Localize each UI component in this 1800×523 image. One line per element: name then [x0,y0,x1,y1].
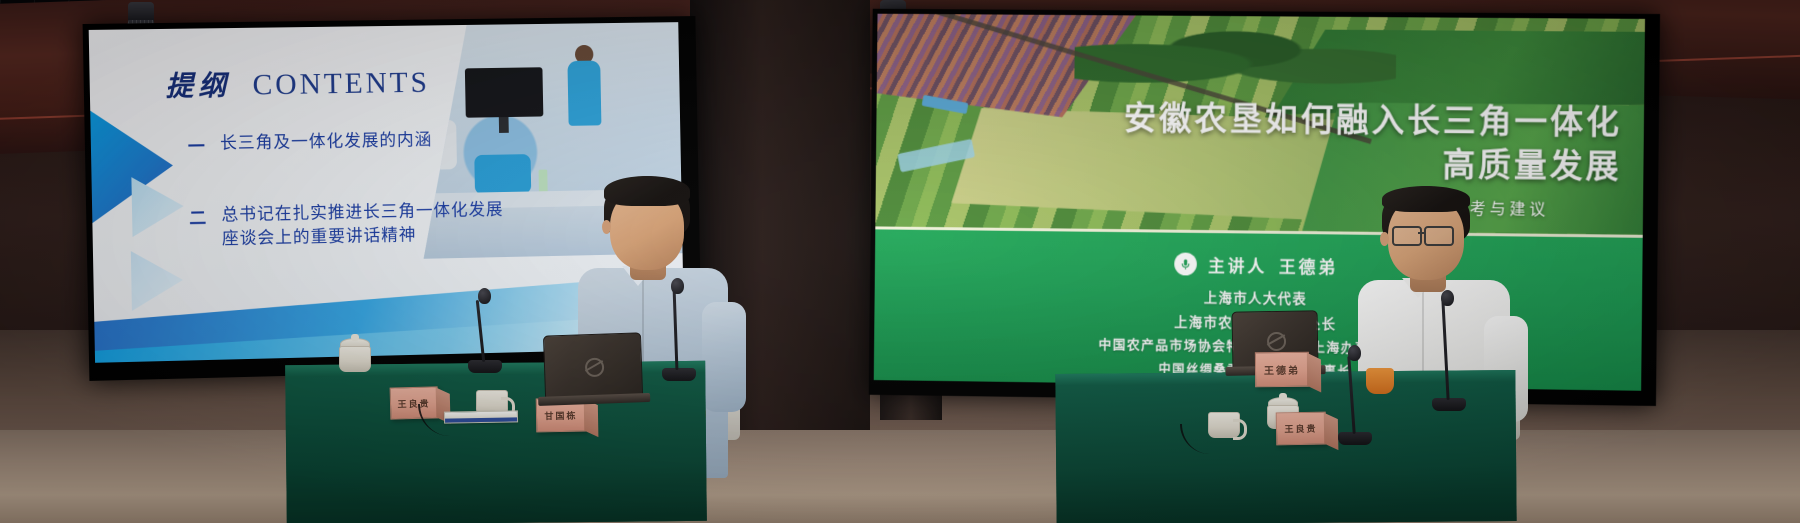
right-slide-title: 安徽农垦如何融入长三角一体化 高质量发展 [1123,97,1622,188]
laptop-left [543,332,641,397]
microphone-head-icon [671,278,684,294]
left-slide-item-2-number: 二 [188,204,208,229]
microphone-base [468,360,502,373]
chevron-bullet-icon [131,250,184,311]
speaker-left-arm [702,302,746,412]
right-slide-speaker-name: 王德弟 [1279,253,1338,279]
left-slide-item-1-number: 一 [186,132,206,157]
left-speaker-table [285,361,707,523]
left-slide-item-2-text: 总书记在扎实推进长三角一体化发展 座谈会上的重要讲话精神 [221,198,504,251]
teacup [339,346,371,372]
microphone-base [1338,432,1372,445]
eyeglasses-left-lens [1392,226,1422,246]
microphone-base [662,368,696,381]
left-slide-item-1-text: 长三角及一体化发展的内涵 [220,128,433,156]
microphone-head-icon [1348,345,1361,361]
left-slide-title: 提纲 CONTENTS [165,61,430,105]
orange-device [1366,368,1394,394]
left-slide-title-en: CONTENTS [252,66,430,102]
nameplate-right-1: 王良贵 [1276,412,1327,446]
microphone-icon [1174,253,1197,276]
microphone-head-icon [1441,290,1454,306]
right-slide-title-line1: 安徽农垦如何融入长三角一体化 [1124,97,1623,145]
floor [0,430,1800,523]
chevron-bullet-icon [131,176,184,237]
eyeglasses-bridge [1418,232,1426,234]
microphone-head-icon [478,288,491,304]
eyeglasses-right-lens [1424,226,1454,246]
right-slide-speaker-label: 主讲人 [1208,252,1267,277]
conference-hall-screenshot: 提纲 CONTENTS 一 长三角及一体化发展的内涵 二 总书记在扎实推进长三角… [0,0,1800,523]
right-slide-title-line2: 高质量发展 [1123,140,1622,188]
left-slide-title-cn: 提纲 [165,64,231,105]
nameplate-right-2: 王德弟 [1255,352,1309,387]
microphone-base [1432,398,1466,411]
